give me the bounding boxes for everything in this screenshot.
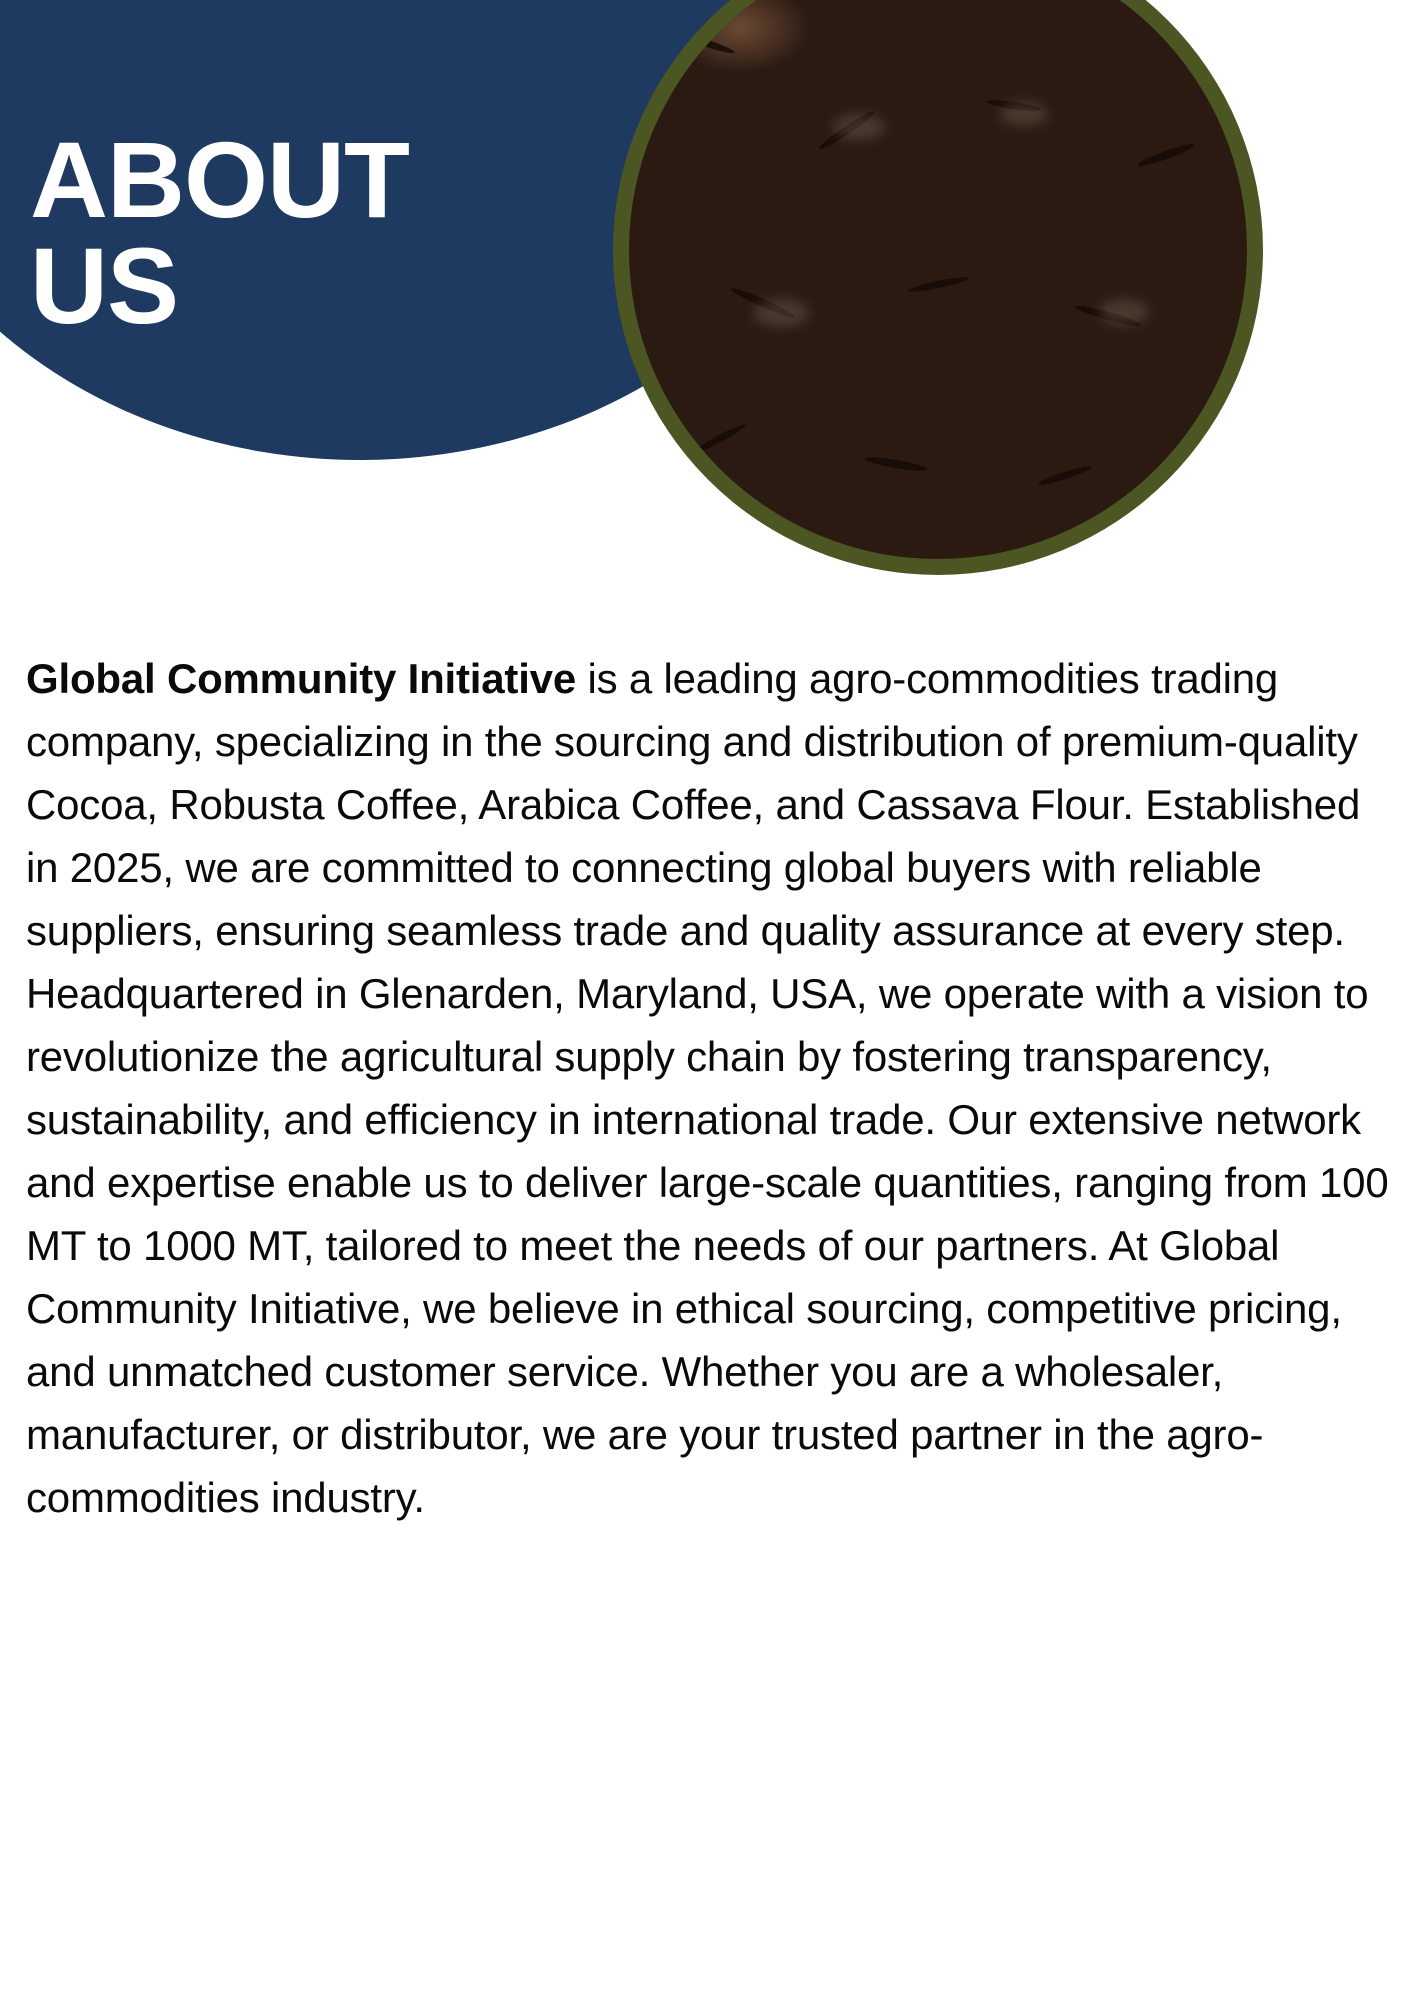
page-title: ABOUT US bbox=[30, 127, 590, 339]
about-lead: Global Community Initiative bbox=[26, 655, 576, 702]
bean-highlight bbox=[833, 114, 885, 140]
bean-highlight bbox=[1000, 102, 1048, 126]
bean-crack bbox=[693, 422, 747, 455]
coffee-beans-ring bbox=[613, 0, 1263, 575]
about-body-text: is a leading agro-commodities trading co… bbox=[26, 655, 1389, 1521]
bean-crack bbox=[1037, 464, 1092, 488]
about-paragraph: Global Community Initiative is a leading… bbox=[26, 647, 1394, 1529]
bean-crack bbox=[679, 31, 736, 56]
bean-highlight bbox=[1099, 299, 1149, 325]
coffee-beans-photo bbox=[629, 0, 1247, 559]
bean-highlight bbox=[753, 299, 809, 327]
bean-crack bbox=[1136, 141, 1195, 169]
bean-crack bbox=[864, 455, 928, 474]
bean-crack bbox=[907, 275, 969, 295]
